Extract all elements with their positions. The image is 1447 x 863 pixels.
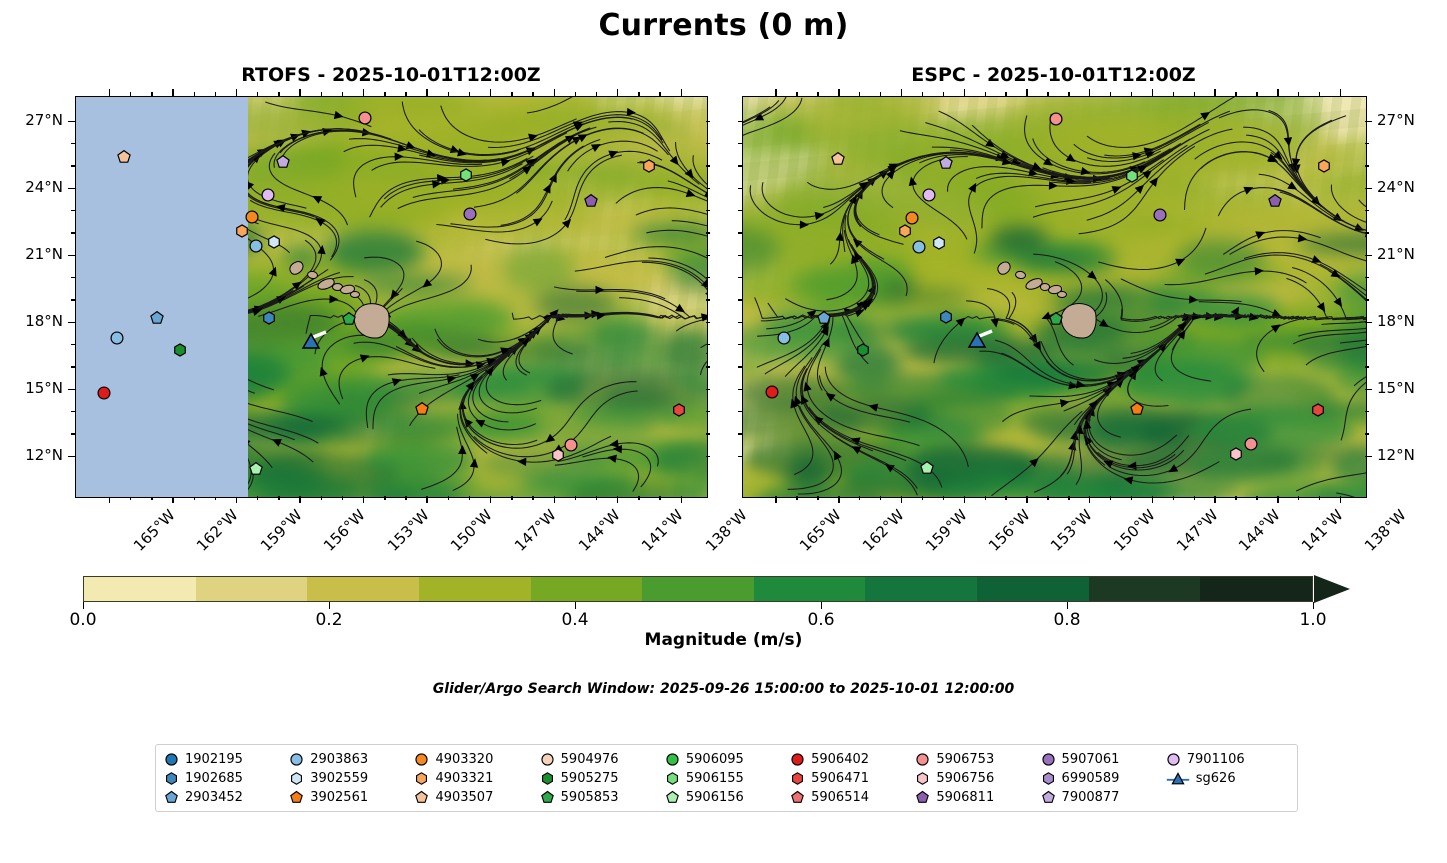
colorbar-title: Magnitude (m/s) bbox=[0, 630, 1447, 650]
legend-marker-hexagon-icon bbox=[665, 771, 680, 786]
x-axis-minor-tick bbox=[151, 92, 152, 96]
legend-item[interactable]: 7901106 bbox=[1166, 750, 1289, 769]
map-marker-5906156[interactable] bbox=[248, 461, 264, 477]
x-axis-tick-top bbox=[1277, 89, 1278, 96]
legend-marker-hexagon-icon bbox=[915, 771, 930, 786]
x-axis-minor-tick bbox=[1194, 92, 1195, 96]
x-axis-tick bbox=[1089, 496, 1090, 503]
x-axis-tick bbox=[426, 496, 427, 503]
y-axis-tick bbox=[68, 322, 75, 323]
colorbar-tick bbox=[329, 602, 330, 609]
x-axis-minor-tick bbox=[817, 92, 818, 96]
colorbar-tick-label: 0.6 bbox=[807, 610, 834, 630]
legend-item[interactable]: 1902685 bbox=[164, 769, 287, 788]
x-axis-tick-top bbox=[1214, 89, 1215, 96]
map-marker-5906471[interactable] bbox=[1310, 402, 1326, 418]
colorbar-segment bbox=[307, 577, 419, 601]
legend-item[interactable]: 3902559 bbox=[289, 769, 412, 788]
x-axis-minor-tick bbox=[130, 92, 131, 96]
legend-item-label: 7901106 bbox=[1187, 752, 1245, 767]
y-axis-minor-tick bbox=[738, 210, 742, 211]
map-marker-5906471[interactable] bbox=[671, 402, 687, 418]
streamline-arrow bbox=[991, 318, 1001, 328]
x-axis-tick bbox=[681, 496, 682, 503]
streamline-arrow bbox=[310, 192, 322, 204]
x-axis-label: 147°W bbox=[1173, 506, 1222, 555]
colorbar-tick bbox=[575, 602, 576, 609]
y-axis-minor-tick bbox=[71, 411, 75, 412]
y-axis-label: 21°N bbox=[0, 245, 63, 263]
x-axis-tick-top bbox=[363, 89, 364, 96]
legend-item[interactable]: 5906402 bbox=[790, 750, 913, 769]
y-axis-minor-tick bbox=[71, 366, 75, 367]
x-axis-label: 153°W bbox=[384, 506, 433, 555]
x-axis-minor-tick bbox=[659, 92, 660, 96]
map-panel-espc[interactable] bbox=[742, 96, 1367, 498]
legend-item[interactable]: 5907061 bbox=[1041, 750, 1164, 769]
x-axis-tick-top bbox=[172, 89, 173, 96]
streamline-arrow bbox=[868, 402, 879, 412]
map-marker-5906753[interactable] bbox=[1048, 111, 1064, 127]
streamline-arrow bbox=[1255, 228, 1266, 239]
x-axis-minor-tick bbox=[1298, 92, 1299, 96]
x-axis-tick-top bbox=[838, 89, 839, 96]
y-axis-minor-tick bbox=[71, 344, 75, 345]
y-axis-tick bbox=[68, 188, 75, 189]
y-axis-tick-opposite bbox=[738, 188, 742, 189]
streamline-arrow bbox=[968, 181, 980, 193]
panel-title-espc: ESPC - 2025-10-01T12:00Z bbox=[742, 64, 1365, 86]
x-axis-minor-tick bbox=[1256, 92, 1257, 96]
colorbar-tick bbox=[1313, 602, 1314, 609]
map-marker-5905275[interactable] bbox=[855, 342, 871, 358]
streamline-arrow bbox=[420, 279, 432, 291]
map-marker-5906402[interactable] bbox=[764, 384, 780, 400]
colorbar-segment bbox=[84, 577, 196, 601]
legend-item-label: 5906156 bbox=[686, 790, 744, 805]
y-axis-label: 21°N bbox=[1377, 245, 1415, 263]
x-axis-label: 159°W bbox=[922, 506, 971, 555]
colorbar-tick-label: 0.2 bbox=[315, 610, 342, 630]
legend-item[interactable]: 4903507 bbox=[414, 788, 537, 807]
legend-marker-pentagon-icon bbox=[1041, 790, 1056, 805]
map-marker-4903507[interactable] bbox=[830, 151, 846, 167]
map-marker-4903321[interactable] bbox=[1316, 158, 1332, 174]
x-axis-minor-tick bbox=[1110, 92, 1111, 96]
y-axis-tick bbox=[1365, 121, 1372, 122]
x-axis-label: 144°W bbox=[574, 506, 623, 555]
legend-marker-circle-icon bbox=[289, 752, 304, 767]
map-marker-5906155[interactable] bbox=[1124, 168, 1140, 184]
streamline-arrow bbox=[517, 457, 526, 466]
map-marker-1902685[interactable] bbox=[938, 309, 954, 325]
x-axis-tick bbox=[363, 496, 364, 503]
streamline-arrow bbox=[686, 189, 697, 200]
y-axis-tick bbox=[1365, 389, 1372, 390]
x-axis-label: 165°W bbox=[796, 506, 845, 555]
y-axis-minor-tick bbox=[71, 143, 75, 144]
colorbar-segment bbox=[865, 577, 977, 601]
x-axis-label: 147°W bbox=[511, 506, 560, 555]
legend-item[interactable]: 7900877 bbox=[1041, 788, 1164, 807]
x-axis-tick-top bbox=[236, 89, 237, 96]
streamline-arrow bbox=[1087, 270, 1099, 282]
legend-item[interactable]: 5905275 bbox=[540, 769, 663, 788]
x-axis-tick-top bbox=[901, 89, 902, 96]
x-axis-tick bbox=[109, 496, 110, 503]
streamline-arrow bbox=[595, 286, 604, 295]
legend-item-label: 2903452 bbox=[185, 790, 243, 805]
legend-item[interactable]: 5906156 bbox=[665, 788, 788, 807]
legend-marker-pentagon-icon bbox=[289, 790, 304, 805]
y-axis-minor-tick bbox=[71, 165, 75, 166]
map-marker-3902561[interactable] bbox=[414, 401, 430, 417]
y-axis-tick bbox=[68, 255, 75, 256]
x-axis-minor-tick bbox=[342, 92, 343, 96]
streamline-arrow bbox=[1175, 255, 1187, 266]
x-axis-label: 141°W bbox=[1298, 506, 1347, 555]
legend-marker-circle-icon bbox=[665, 752, 680, 767]
legend-item[interactable]: 5906155 bbox=[665, 769, 788, 788]
map-marker-1902685[interactable] bbox=[261, 310, 277, 326]
legend-item[interactable]: 3902561 bbox=[289, 788, 412, 807]
x-axis-minor-tick bbox=[511, 92, 512, 96]
x-axis-tick bbox=[775, 496, 776, 503]
map-marker-5906402[interactable] bbox=[96, 385, 112, 401]
map-marker-2903863[interactable] bbox=[109, 330, 125, 346]
x-axis-minor-tick bbox=[1319, 92, 1320, 96]
x-axis-minor-tick bbox=[985, 92, 986, 96]
search-window-text: Glider/Argo Search Window: 2025-09-26 15… bbox=[0, 681, 1447, 697]
x-axis-minor-tick bbox=[321, 92, 322, 96]
y-axis-tick-opposite bbox=[738, 389, 742, 390]
legend-item-label: 5907061 bbox=[1062, 752, 1120, 767]
map-marker-sg626[interactable] bbox=[300, 331, 322, 351]
streamline-arrow bbox=[823, 390, 835, 402]
streamline-arrow bbox=[1284, 137, 1293, 147]
legend-item[interactable]: 2903863 bbox=[289, 750, 412, 769]
legend-item[interactable]: 5906753 bbox=[915, 750, 1038, 769]
x-axis-minor-tick bbox=[943, 92, 944, 96]
y-axis-minor-tick bbox=[71, 433, 75, 434]
map-marker-2903452[interactable] bbox=[816, 310, 832, 326]
colorbar-tick-label: 0.4 bbox=[561, 610, 588, 630]
y-axis-minor-tick bbox=[738, 433, 742, 434]
map-marker-4903321[interactable] bbox=[234, 223, 250, 239]
streamline-arrow bbox=[1060, 398, 1070, 408]
legend-item-label: 5906095 bbox=[686, 752, 744, 767]
y-axis-label: 27°N bbox=[1377, 111, 1415, 129]
x-axis-minor-tick bbox=[405, 92, 406, 96]
y-axis-tick bbox=[68, 389, 75, 390]
streamline-arrow bbox=[1123, 474, 1134, 484]
streamline-arrow bbox=[1255, 266, 1265, 275]
map-marker-5906756[interactable] bbox=[1228, 446, 1244, 462]
legend-item-label: 4903320 bbox=[435, 752, 493, 767]
map-marker-3902559[interactable] bbox=[266, 234, 282, 250]
y-axis-minor-tick bbox=[738, 232, 742, 233]
legend-item[interactable]: 2903452 bbox=[164, 788, 287, 807]
x-axis-label: 165°W bbox=[130, 506, 179, 555]
x-axis-tick-top bbox=[964, 89, 965, 96]
legend-item-label: 1902195 bbox=[185, 752, 243, 767]
legend-item[interactable]: 4903320 bbox=[414, 750, 537, 769]
y-axis-minor-tick bbox=[71, 232, 75, 233]
map-marker-7900877[interactable] bbox=[938, 155, 954, 171]
map-marker-5906756[interactable] bbox=[550, 447, 566, 463]
colorbar-segment bbox=[977, 577, 1089, 601]
x-axis-tick-top bbox=[1026, 89, 1027, 96]
map-marker-2903452[interactable] bbox=[149, 310, 165, 326]
legend-marker-pentagon-icon bbox=[665, 790, 680, 805]
y-axis-label: 24°N bbox=[0, 178, 63, 196]
y-axis-tick-opposite bbox=[738, 322, 742, 323]
x-axis-label: 162°W bbox=[859, 506, 908, 555]
legend-item[interactable]: 5906095 bbox=[665, 750, 788, 769]
colorbar-segment bbox=[419, 577, 531, 601]
legend-item[interactable]: 4903321 bbox=[414, 769, 537, 788]
streamline-arrow bbox=[1166, 464, 1178, 476]
y-axis-tick bbox=[1365, 456, 1372, 457]
legend-marker-circle-icon bbox=[414, 752, 429, 767]
streamline-arrow bbox=[1298, 234, 1308, 244]
legend-item-label: 5905853 bbox=[561, 790, 619, 805]
x-axis-tick-top bbox=[681, 89, 682, 96]
legend-item-label: 1902685 bbox=[185, 771, 243, 786]
streamline-arrow bbox=[334, 111, 345, 121]
colorbar-segment bbox=[754, 577, 866, 601]
colorbar-extend-arrow bbox=[1314, 575, 1350, 603]
map-marker-7901106[interactable] bbox=[260, 187, 276, 203]
colorbar-tick-label: 1.0 bbox=[1299, 610, 1326, 630]
y-axis-tick-opposite bbox=[738, 456, 742, 457]
streamline-arrow bbox=[549, 171, 560, 183]
legend-item-label: 2903863 bbox=[310, 752, 368, 767]
map-marker-2903863[interactable] bbox=[911, 239, 927, 255]
colorbar: 0.00.20.40.60.81.0 bbox=[83, 576, 1313, 602]
streamline-arrow bbox=[705, 289, 707, 301]
legend-item[interactable]: 5906471 bbox=[790, 769, 913, 788]
x-axis-minor-tick bbox=[448, 92, 449, 96]
legend-item-label: 5906756 bbox=[936, 771, 994, 786]
no-data-mask-region bbox=[76, 97, 248, 497]
streamline-arrow bbox=[1200, 108, 1212, 120]
map-marker-5907061[interactable] bbox=[1152, 207, 1168, 223]
legend-item[interactable]: 5905853 bbox=[540, 788, 663, 807]
map-marker-5906155[interactable] bbox=[458, 167, 474, 183]
x-axis-tick-top bbox=[617, 89, 618, 96]
x-axis-minor-tick bbox=[278, 92, 279, 96]
x-axis-minor-tick bbox=[257, 92, 258, 96]
x-axis-tick bbox=[299, 496, 300, 503]
legend-item[interactable]: sg626 bbox=[1166, 769, 1289, 788]
legend-marker-pentagon-icon bbox=[790, 790, 805, 805]
streamline-arrow bbox=[270, 436, 282, 447]
map-marker-3902561[interactable] bbox=[1129, 401, 1145, 417]
map-marker-4903507[interactable] bbox=[116, 149, 132, 165]
x-axis-label: 138°W bbox=[1361, 506, 1410, 555]
y-axis-minor-tick bbox=[738, 165, 742, 166]
map-marker-7901106[interactable] bbox=[921, 187, 937, 203]
x-axis-minor-tick bbox=[1173, 92, 1174, 96]
x-axis-minor-tick bbox=[638, 92, 639, 96]
map-marker-5905853[interactable] bbox=[341, 311, 357, 327]
legend-marker-hexagon-icon bbox=[790, 771, 805, 786]
x-axis-tick-top bbox=[554, 89, 555, 96]
streamline-arrow bbox=[313, 215, 325, 227]
map-marker-4903321[interactable] bbox=[897, 223, 913, 239]
streamline-arrow bbox=[1132, 150, 1142, 160]
map-marker-2903863[interactable] bbox=[248, 238, 264, 254]
legend-marker-circle-icon bbox=[790, 752, 805, 767]
x-axis-minor-tick bbox=[215, 92, 216, 96]
legend-item-label: 5906753 bbox=[936, 752, 994, 767]
legend-item[interactable]: 1902195 bbox=[164, 750, 287, 769]
y-axis-minor-tick bbox=[71, 299, 75, 300]
x-axis-minor-tick bbox=[922, 92, 923, 96]
x-axis-minor-tick bbox=[880, 92, 881, 96]
legend-marker-circle-icon bbox=[1041, 752, 1056, 767]
x-axis-minor-tick bbox=[1047, 92, 1048, 96]
streamline-arrow bbox=[269, 265, 280, 276]
y-axis-tick bbox=[68, 456, 75, 457]
legend-marker-hexagon-icon bbox=[289, 771, 304, 786]
x-axis-label: 162°W bbox=[193, 506, 242, 555]
x-axis-minor-tick bbox=[1005, 92, 1006, 96]
x-axis-tick bbox=[1214, 496, 1215, 503]
y-axis-tick-opposite bbox=[738, 121, 742, 122]
x-axis-label: 156°W bbox=[985, 506, 1034, 555]
map-marker-5906156[interactable] bbox=[919, 460, 935, 476]
x-axis-label: 156°W bbox=[320, 506, 369, 555]
streamline-arrow bbox=[458, 445, 467, 454]
map-marker-3902559[interactable] bbox=[931, 235, 947, 251]
streamline-arrow bbox=[329, 295, 338, 304]
streamline-arrow bbox=[1066, 153, 1078, 165]
y-axis-label: 15°N bbox=[0, 379, 63, 397]
legend-item-label: 4903321 bbox=[435, 771, 493, 786]
x-axis-tick bbox=[617, 496, 618, 503]
y-axis-minor-tick bbox=[738, 277, 742, 278]
legend-item[interactable]: 5906811 bbox=[915, 788, 1038, 807]
streamline-arrow bbox=[1099, 319, 1111, 331]
map-marker-5906753[interactable] bbox=[357, 110, 373, 126]
map-marker-5905275[interactable] bbox=[172, 342, 188, 358]
legend-marker-circle-icon bbox=[540, 752, 555, 767]
y-axis-label: 24°N bbox=[1377, 178, 1415, 196]
x-axis-minor-tick bbox=[469, 92, 470, 96]
map-marker-sg626[interactable] bbox=[966, 330, 988, 350]
map-panel-rtofs[interactable] bbox=[75, 96, 708, 498]
map-marker-7900877[interactable] bbox=[275, 154, 291, 170]
legend-item[interactable]: 5906514 bbox=[790, 788, 913, 807]
legend-item[interactable]: 5906756 bbox=[915, 769, 1038, 788]
legend-item[interactable]: 6990589 bbox=[1041, 769, 1164, 788]
y-axis-minor-tick bbox=[738, 344, 742, 345]
x-axis-tick bbox=[838, 496, 839, 503]
x-axis-tick bbox=[964, 496, 965, 503]
map-marker-5906753[interactable] bbox=[1243, 436, 1259, 452]
map-marker-4903321[interactable] bbox=[641, 158, 657, 174]
streamline-arrow bbox=[597, 311, 607, 320]
x-axis-label: 159°W bbox=[257, 506, 306, 555]
streamline-arrow bbox=[543, 182, 555, 194]
x-axis-tick-top bbox=[1340, 89, 1341, 96]
y-axis-tick-opposite bbox=[738, 255, 742, 256]
y-axis-minor-tick bbox=[71, 277, 75, 278]
x-axis-tick-top bbox=[299, 89, 300, 96]
colorbar-segment bbox=[531, 577, 643, 601]
colorbar-tick-label: 0.8 bbox=[1053, 610, 1080, 630]
streamline-arrow bbox=[470, 458, 479, 468]
legend-item-label: 6990589 bbox=[1062, 771, 1120, 786]
x-axis-label: 144°W bbox=[1235, 506, 1284, 555]
x-axis-tick bbox=[901, 496, 902, 503]
x-axis-tick bbox=[554, 496, 555, 503]
x-axis-label: 141°W bbox=[638, 506, 687, 555]
legend-marker-circle-icon bbox=[164, 752, 179, 767]
legend-marker-pentagon-icon bbox=[915, 790, 930, 805]
map-marker-5906811[interactable] bbox=[1267, 193, 1283, 209]
y-axis-tick bbox=[1365, 322, 1372, 323]
x-axis-tick bbox=[1026, 496, 1027, 503]
y-axis-label: 18°N bbox=[1377, 312, 1415, 330]
colorbar-segment bbox=[642, 577, 754, 601]
x-axis-label: 138°W bbox=[702, 506, 751, 555]
x-axis-minor-tick bbox=[1235, 92, 1236, 96]
y-axis-label: 12°N bbox=[1377, 446, 1415, 464]
x-axis-minor-tick bbox=[532, 92, 533, 96]
x-axis-minor-tick bbox=[575, 92, 576, 96]
map-marker-5905853[interactable] bbox=[1048, 311, 1064, 327]
y-axis-tick bbox=[68, 121, 75, 122]
x-axis-tick bbox=[236, 496, 237, 503]
legend-marker-hexagon-icon bbox=[1041, 771, 1056, 786]
y-axis-tick bbox=[1365, 188, 1372, 189]
colorbar-gradient bbox=[83, 576, 1313, 602]
y-axis-minor-tick bbox=[738, 366, 742, 367]
x-axis-tick bbox=[1340, 496, 1341, 503]
map-marker-5907061[interactable] bbox=[462, 206, 478, 222]
streamline-arrow bbox=[822, 336, 833, 348]
legend-item-label: 5906811 bbox=[936, 790, 994, 805]
x-axis-tick bbox=[490, 496, 491, 503]
x-axis-label: 150°W bbox=[1110, 506, 1159, 555]
x-axis-tick-top bbox=[490, 89, 491, 96]
legend-item-label: 5904976 bbox=[561, 752, 619, 767]
colorbar-tick bbox=[83, 602, 84, 609]
legend-item[interactable]: 5904976 bbox=[540, 750, 663, 769]
legend-marker-hexagon-icon bbox=[540, 771, 555, 786]
x-axis-tick bbox=[172, 496, 173, 503]
x-axis-minor-tick bbox=[1068, 92, 1069, 96]
legend-marker-circle-icon bbox=[1166, 752, 1181, 767]
legend-marker-hexagon-icon bbox=[414, 771, 429, 786]
streamline-arrow bbox=[317, 244, 326, 254]
x-axis-minor-tick bbox=[596, 92, 597, 96]
legend-item-label: 5905275 bbox=[561, 771, 619, 786]
y-axis-minor-tick bbox=[738, 411, 742, 412]
streamline-arrow bbox=[395, 152, 404, 161]
y-axis-label: 27°N bbox=[0, 111, 63, 129]
map-marker-2903863[interactable] bbox=[776, 330, 792, 346]
y-axis-minor-tick bbox=[738, 143, 742, 144]
legend-marker-circle-icon bbox=[915, 752, 930, 767]
legend-box: 1902195190268529034522903863390255939025… bbox=[155, 744, 1298, 812]
x-axis-tick bbox=[1277, 496, 1278, 503]
map-marker-5906811[interactable] bbox=[583, 193, 599, 209]
legend-marker-pentagon-icon bbox=[164, 790, 179, 805]
